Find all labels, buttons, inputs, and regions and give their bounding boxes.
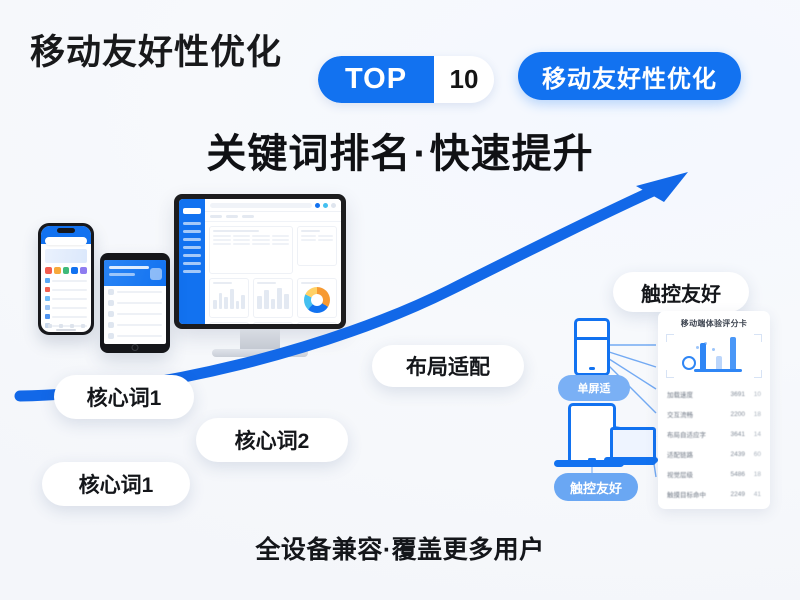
phone-home-indicator [56, 329, 76, 331]
monitor-stand-base [212, 349, 308, 357]
footer-tagline: 全设备兼容·覆盖更多用户 [0, 530, 800, 566]
app-icon [45, 267, 52, 274]
phone-banner [45, 249, 87, 263]
dashboard-topbar [205, 199, 341, 212]
scorecard-title: 移动端体验评分卡 [658, 311, 770, 334]
sidebar-nav-item [183, 262, 201, 265]
layout-adaptation-pill[interactable]: 布局适配 [372, 345, 524, 387]
dashboard-tabs [205, 212, 341, 222]
top-badge-label: TOP [318, 56, 434, 103]
dashboard-area-card-mid [253, 322, 293, 324]
scorecard-row-label: 适配链路 [667, 449, 721, 459]
monitor-screen [179, 199, 341, 324]
phone-mockup [38, 223, 94, 335]
footer-text-right: 覆盖更多用户 [392, 536, 545, 564]
dashboard-tab [210, 215, 222, 218]
scorecard-row: 布局自适应字364114 [667, 424, 761, 444]
chart-bar [716, 356, 722, 369]
scorecard-row-index: 18 [745, 471, 761, 478]
scorecard-row-label: 布局自适应字 [667, 429, 721, 439]
donut-chart [304, 287, 330, 313]
app-icon [71, 267, 78, 274]
card-heading-bar [301, 230, 320, 232]
phone-app-shortcuts [45, 267, 87, 274]
list-item [108, 300, 162, 306]
list-item [45, 278, 87, 283]
page-subtitle: 关键词排名·快速提升 [0, 121, 800, 179]
topbar-dot-icon [323, 203, 328, 208]
sidebar-nav-item [183, 246, 201, 249]
dashboard-area-card-right [297, 322, 337, 324]
phone-notch [57, 228, 75, 233]
list-item [45, 287, 87, 292]
scorecard-row-label: 视觉层级 [667, 469, 721, 479]
dashboard-main [205, 199, 341, 324]
scorecard-row-list: 加载速度369110交互流畅220018布局自适应字364114适配链路2439… [658, 384, 770, 504]
app-icon [80, 267, 87, 274]
magnifier-icon [682, 356, 696, 370]
tablet-result-list [104, 286, 166, 344]
scorecard-row-label: 触摸目标命中 [667, 489, 721, 499]
app-icon [54, 267, 61, 274]
phone-search-field [45, 237, 87, 245]
diagram-pill-touch-friendly: 触控友好 [554, 473, 638, 501]
dashboard-tab [242, 215, 254, 218]
scorecard-row-label: 加载速度 [667, 389, 721, 399]
chart-bar [730, 337, 736, 369]
tablet-hero-thumb-icon [150, 268, 162, 280]
scorecard-row-index: 18 [745, 411, 761, 418]
footer-separator: · [383, 536, 392, 564]
subtitle-left: 关键词排名 [206, 132, 411, 176]
top-rank-badge: TOP 10 [318, 56, 494, 103]
dashboard-logo-icon [183, 208, 201, 214]
sidebar-nav-item [183, 238, 201, 241]
list-item [45, 305, 87, 310]
chart-bar [700, 343, 706, 369]
poster-canvas: 移动友好性优化 TOP 10 移动友好性优化 关键词排名·快速提升 [0, 0, 800, 600]
dashboard-bar-chart-card [253, 278, 293, 318]
sidebar-nav-item [183, 230, 201, 233]
tab-icon [81, 324, 85, 328]
footer-text-left: 全设备兼容 [255, 536, 383, 564]
scorecard-row-index: 10 [745, 391, 761, 398]
keyword-pill-2[interactable]: 核心词2 [196, 418, 348, 462]
scorecard-row: 交互流畅220018 [667, 404, 761, 424]
desktop-monitor-mockup [174, 194, 346, 329]
tablet-home-button [132, 344, 139, 351]
page-title: 移动友好性优化 [30, 24, 282, 75]
dashboard-search-bar [210, 203, 312, 208]
tablet-screen [104, 260, 166, 344]
dashboard-card [297, 226, 337, 266]
tablet-mockup [100, 253, 170, 353]
scorecard-row-index: 41 [745, 491, 761, 498]
list-item [108, 289, 162, 295]
dashboard-donut-card [297, 278, 337, 318]
phone-screen [41, 226, 91, 332]
top-badge-rank: 10 [434, 56, 494, 103]
bar-chart [257, 287, 289, 309]
sidebar-nav-item [183, 270, 201, 273]
scorecard-row-value: 2249 [721, 491, 745, 498]
diagram-laptop-base [604, 457, 658, 463]
dashboard-ui [179, 199, 341, 324]
list-item [45, 314, 87, 319]
dashboard-card-grid [205, 222, 341, 324]
card-heading-bar [213, 282, 232, 284]
scorecard-row: 加载速度369110 [667, 384, 761, 404]
tablet-hero-banner [104, 260, 166, 286]
scorecard-row-value: 3691 [721, 391, 745, 398]
dashboard-card [209, 226, 293, 274]
scorecard-row: 视觉层级548618 [667, 464, 761, 484]
device-relationship-diagram: 单屏适 触控友好 移动端体验评分卡 加载速度369110交互流畅220018布局… [548, 305, 774, 515]
dashboard-line-chart-card [209, 278, 249, 318]
sidebar-nav-item [183, 222, 201, 225]
subtitle-right: 快速提升 [430, 132, 594, 176]
subtitle-separator: · [411, 132, 429, 176]
card-heading-bar [213, 230, 259, 232]
mobile-experience-scorecard: 移动端体验评分卡 加载速度369110交互流畅220018布局自适应字36411… [658, 311, 770, 509]
list-item [108, 322, 162, 328]
scorecard-row-index: 60 [745, 451, 761, 458]
device-mockup-group [22, 185, 342, 385]
keyword-pill-3[interactable]: 核心词1 [42, 462, 190, 506]
tab-icon [48, 324, 52, 328]
list-item [45, 296, 87, 301]
tab-icon [70, 324, 74, 328]
phone-tab-bar [41, 324, 91, 328]
topbar-dot-icon [315, 203, 320, 208]
card-heading-bar [301, 282, 320, 284]
list-item [108, 333, 162, 339]
card-heading-bar [257, 282, 276, 284]
diagram-phone-icon [574, 318, 610, 376]
list-item [108, 311, 162, 317]
diagram-pill-single-screen: 单屏适 [558, 375, 630, 401]
dashboard-tab [226, 215, 238, 218]
dashboard-area-card-left [209, 322, 249, 324]
keyword-pill-1[interactable]: 核心词1 [54, 375, 194, 419]
chart-baseline [694, 369, 742, 372]
scorecard-row-value: 2439 [721, 451, 745, 458]
scorecard-row-value: 2200 [721, 411, 745, 418]
sparkline-chart [213, 287, 245, 309]
app-icon [63, 267, 70, 274]
scorecard-row-index: 14 [745, 431, 761, 438]
scorecard-row: 适配链路243960 [667, 444, 761, 464]
scorecard-row-value: 5486 [721, 471, 745, 478]
header-blue-tag: 移动友好性优化 [518, 52, 741, 100]
scorecard-chart [666, 334, 762, 378]
topbar-dot-icon [331, 203, 336, 208]
sidebar-nav-item [183, 254, 201, 257]
monitor-stand-neck [240, 329, 280, 351]
scorecard-row: 触摸目标命中224941 [667, 484, 761, 504]
scorecard-row-label: 交互流畅 [667, 409, 721, 419]
tab-icon [59, 324, 63, 328]
dashboard-sidebar [179, 199, 205, 324]
scorecard-row-value: 3641 [721, 431, 745, 438]
